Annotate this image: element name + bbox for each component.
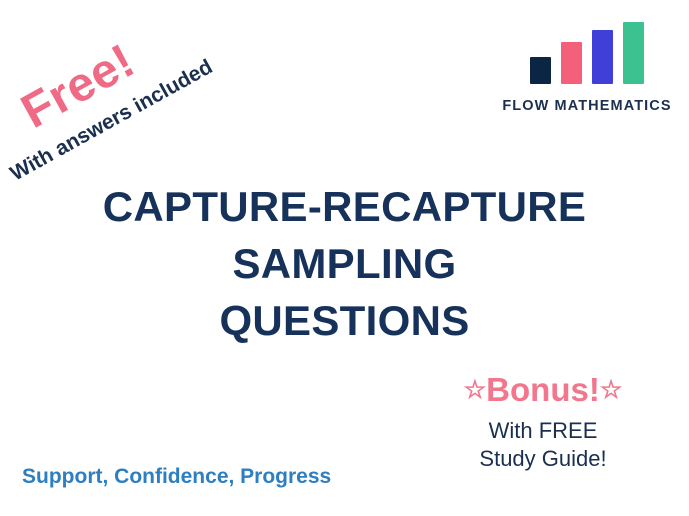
page-title-line-1: CAPTURE-RECAPTURE xyxy=(0,178,689,235)
star-left-icon: ☆ xyxy=(464,376,486,404)
bar-green-icon xyxy=(623,22,644,84)
logo-wordmark: FLOW MATHEMATICS xyxy=(501,98,673,114)
page-title: CAPTURE-RECAPTURE SAMPLING QUESTIONS xyxy=(0,178,689,349)
flow-mathematics-logo: FLOW MATHEMATICS xyxy=(501,22,673,114)
bar-pink-icon xyxy=(561,42,582,84)
poster-canvas: Free! With answers included FLOW MATHEMA… xyxy=(0,0,689,516)
bonus-subtext-line-1: With FREE xyxy=(423,417,663,445)
page-title-line-3: QUESTIONS xyxy=(0,292,689,349)
bonus-callout: ☆Bonus!☆ With FREE Study Guide! xyxy=(423,372,663,473)
bonus-label: Bonus! xyxy=(486,371,600,408)
bonus-headline: ☆Bonus!☆ xyxy=(423,372,663,408)
bar-navy-icon xyxy=(530,57,551,84)
star-right-icon: ☆ xyxy=(600,376,622,404)
logo-bar-chart-icon xyxy=(501,22,673,84)
bonus-subtext-line-2: Study Guide! xyxy=(423,445,663,473)
bar-blue-icon xyxy=(592,30,613,84)
bonus-subtext: With FREE Study Guide! xyxy=(423,417,663,473)
brand-tagline: Support, Confidence, Progress xyxy=(22,465,331,489)
page-title-line-2: SAMPLING xyxy=(0,235,689,292)
